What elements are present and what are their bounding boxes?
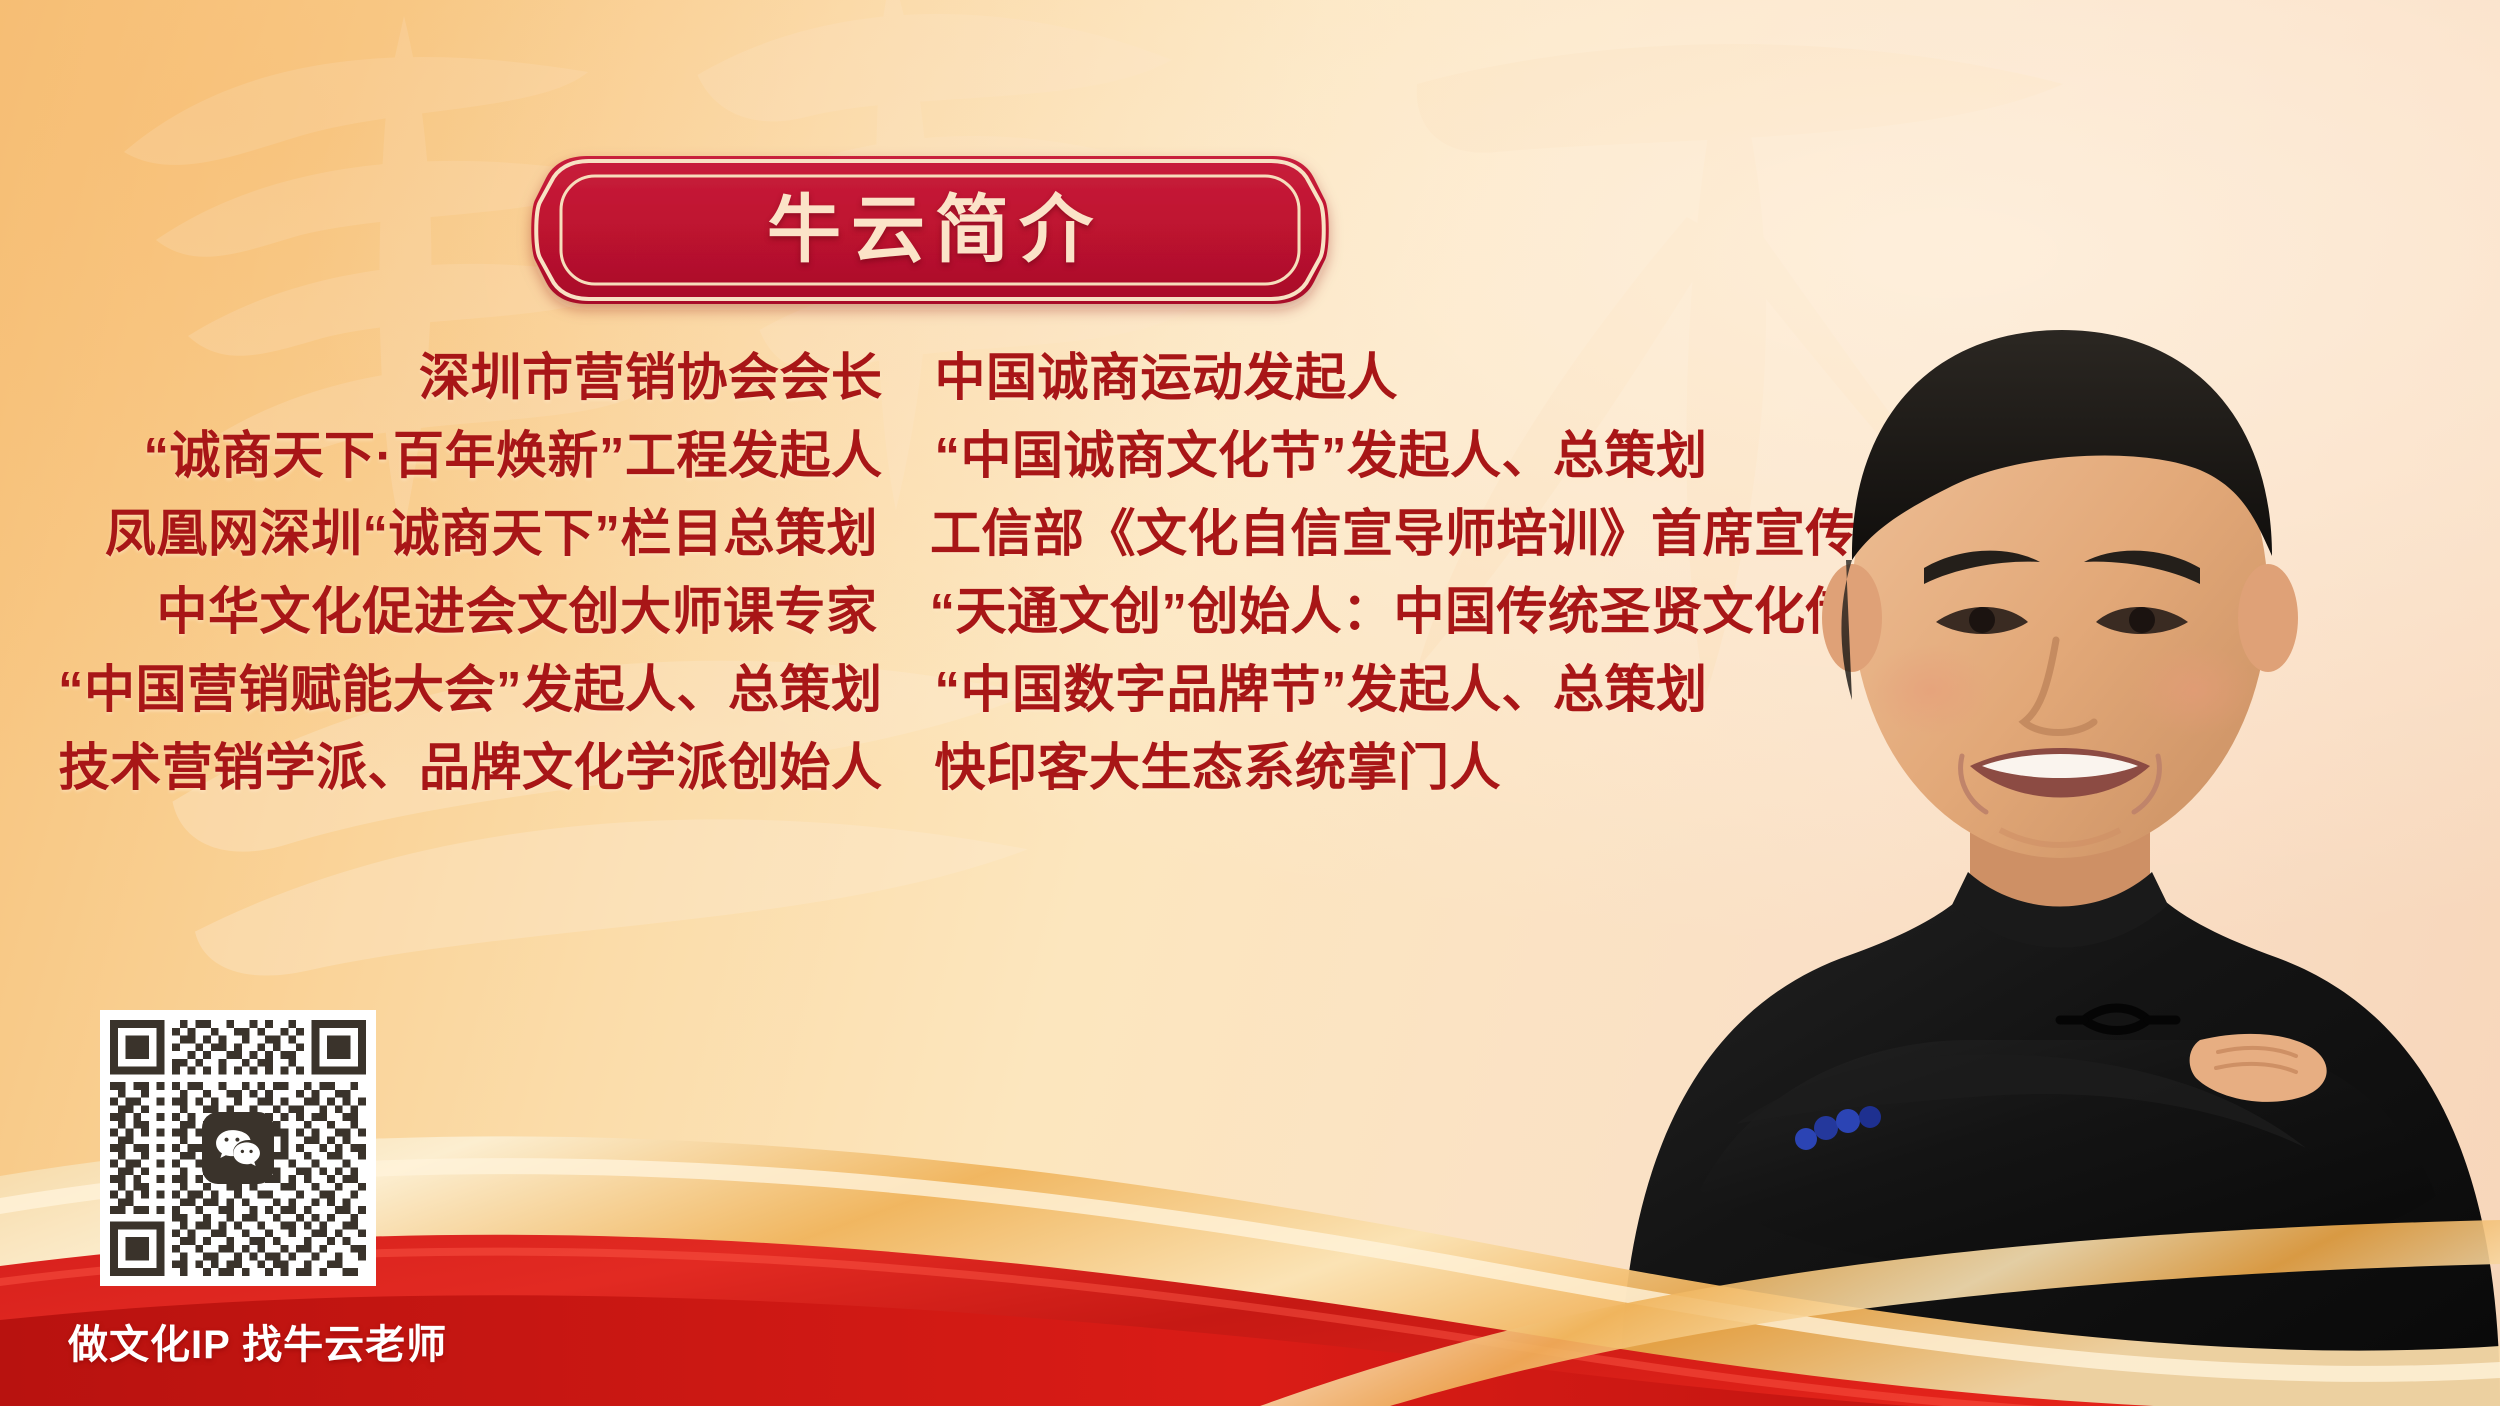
credential-left: 凤凰网深圳“诚商天下”栏目总策划 xyxy=(0,508,904,559)
credential-row: “诚商天下·百年焕新”工程发起人 “中国诚商文化节”发起人、总策划 xyxy=(0,430,1960,508)
title-plaque: 牛云简介 xyxy=(535,150,1325,310)
credential-row: 中华文化促进会文创大师课专家 “天通文创”创始人：中国传统圣贤文化传播者 xyxy=(0,586,1960,664)
wechat-icon xyxy=(202,1112,274,1184)
credentials-list: 深圳市营销协会会长 中国诚商运动发起人 “诚商天下·百年焕新”工程发起人 “中国… xyxy=(0,352,1960,820)
credential-left: 技术营销学派、品牌文化学派创始人 xyxy=(0,742,909,793)
credential-row: 技术营销学派、品牌文化学派创始人 快印客大生态系统掌门人 xyxy=(0,742,1960,820)
credential-right: 中国诚商运动发起人 xyxy=(909,352,1960,403)
credential-right: “中国诚商文化节”发起人、总策划 xyxy=(909,430,1960,481)
credential-left: “中国营销赋能大会”发起人、总策划 xyxy=(0,664,909,715)
qr-block: 做文化IP 找牛云老师 xyxy=(100,1010,400,1370)
page-title: 牛云简介 xyxy=(535,150,1325,310)
credential-right: 快印客大生态系统掌门人 xyxy=(909,742,1960,793)
credential-left: 深圳市营销协会会长 xyxy=(0,352,909,403)
credential-row: 凤凰网深圳“诚商天下”栏目总策划 工信部《文化自信宣导师培训》首席宣传大使 xyxy=(0,508,1960,586)
credential-left: “诚商天下·百年焕新”工程发起人 xyxy=(0,430,909,481)
poster-canvas: 牛云简介 深圳市营销协会会长 中国诚商运动发起人 “诚商天下·百年焕新”工程发起… xyxy=(0,0,2500,1406)
credential-right: 工信部《文化自信宣导师培训》首席宣传大使 xyxy=(904,508,1960,559)
credential-left: 中华文化促进会文创大师课专家 xyxy=(0,586,903,637)
qr-code[interactable] xyxy=(100,1010,376,1286)
credential-row: 深圳市营销协会会长 中国诚商运动发起人 xyxy=(0,352,1960,430)
credential-row: “中国营销赋能大会”发起人、总策划 “中国数字品牌节”发起人、总策划 xyxy=(0,664,1960,742)
qr-caption: 做文化IP 找牛云老师 xyxy=(68,1312,400,1370)
credential-right: “中国数字品牌节”发起人、总策划 xyxy=(909,664,1960,715)
credential-right: “天通文创”创始人：中国传统圣贤文化传播者 xyxy=(903,586,1960,637)
